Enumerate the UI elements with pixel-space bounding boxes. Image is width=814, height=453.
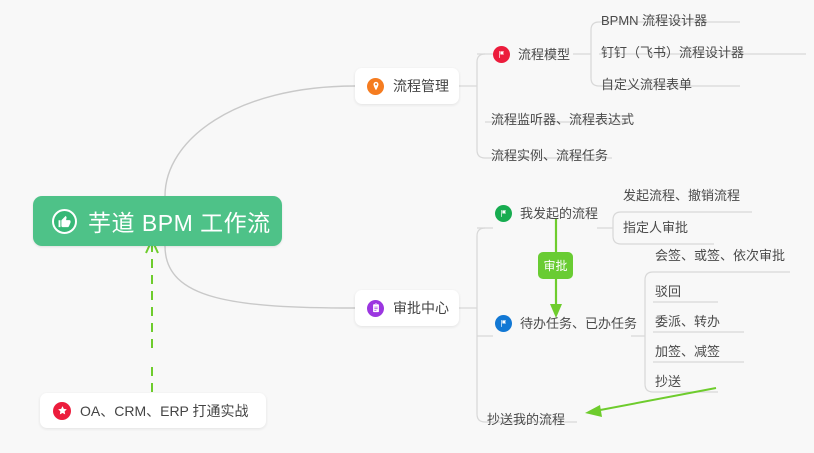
leaf-process-model[interactable]: 流程模型 xyxy=(493,46,570,63)
leaf-countersign-orsign-sequential-label: 会签、或签、依次审批 xyxy=(655,249,785,262)
flag-icon xyxy=(493,46,510,63)
tag-approve[interactable]: 审批 xyxy=(538,252,573,279)
leaf-start-cancel-process[interactable]: 发起流程、撤销流程 xyxy=(623,189,740,202)
leaf-process-model-label: 流程模型 xyxy=(518,48,570,61)
leaf-my-initiated-processes[interactable]: 我发起的流程 xyxy=(495,205,598,222)
bracket-my-initiated-children xyxy=(613,212,621,244)
tag-approve-label: 审批 xyxy=(543,257,567,274)
bracket-process-model-children xyxy=(591,22,599,86)
note-integration-label: OA、CRM、ERP 打通实战 xyxy=(80,401,249,421)
leaf-dingtalk-feishu-designer[interactable]: 钉钉（飞书）流程设计器 xyxy=(601,46,744,59)
leaf-assignee-approval[interactable]: 指定人审批 xyxy=(623,221,688,234)
leaf-todo-done-tasks[interactable]: 待办任务、已办任务 xyxy=(495,315,637,332)
leaf-custom-process-form[interactable]: 自定义流程表单 xyxy=(601,78,692,91)
bracket-todo-done-children xyxy=(645,272,653,392)
thumbs-up-icon xyxy=(52,209,77,234)
leaf-cc[interactable]: 抄送 xyxy=(655,375,681,388)
leaf-dingtalk-feishu-designer-label: 钉钉（飞书）流程设计器 xyxy=(601,46,744,59)
leaf-assignee-approval-label: 指定人审批 xyxy=(623,221,688,234)
leaf-countersign-orsign-sequential[interactable]: 会签、或签、依次审批 xyxy=(655,249,785,262)
root-node[interactable]: 芋道 BPM 工作流 xyxy=(33,196,282,246)
leaf-process-instance-task-label: 流程实例、流程任务 xyxy=(491,149,608,162)
star-icon xyxy=(53,402,71,420)
edge-root-to-process-management xyxy=(165,86,355,196)
leaf-add-remove-sign-label: 加签、减签 xyxy=(655,345,720,358)
leaf-bpmn-designer-label: BPMN 流程设计器 xyxy=(601,14,707,27)
location-pin-icon xyxy=(367,78,384,95)
leaf-my-initiated-processes-label: 我发起的流程 xyxy=(520,207,598,220)
clipboard-icon xyxy=(367,300,384,317)
leaf-add-remove-sign[interactable]: 加签、减签 xyxy=(655,345,720,358)
leaf-process-listener-expression-label: 流程监听器、流程表达式 xyxy=(491,113,634,126)
leaf-bpmn-designer[interactable]: BPMN 流程设计器 xyxy=(601,14,707,27)
branch-approval-center-label: 审批中心 xyxy=(393,298,449,318)
branch-process-management-label: 流程管理 xyxy=(393,76,449,96)
leaf-todo-done-tasks-label: 待办任务、已办任务 xyxy=(520,317,637,330)
green-arrow-cc-to-process xyxy=(595,388,716,411)
leaf-reject-label: 驳回 xyxy=(655,285,681,298)
root-label: 芋道 BPM 工作流 xyxy=(88,204,271,238)
mindmap-canvas: 芋道 BPM 工作流 流程管理 审批中心 流程模型 BPMN 流程设计器 xyxy=(0,0,814,453)
leaf-process-instance-task[interactable]: 流程实例、流程任务 xyxy=(491,149,608,162)
flag-icon xyxy=(495,205,512,222)
leaf-process-listener-expression[interactable]: 流程监听器、流程表达式 xyxy=(491,113,634,126)
leaf-cc-to-me-processes-label: 抄送我的流程 xyxy=(487,413,565,426)
leaf-start-cancel-process-label: 发起流程、撤销流程 xyxy=(623,189,740,202)
flag-icon xyxy=(495,315,512,332)
branch-approval-center[interactable]: 审批中心 xyxy=(355,290,459,326)
leaf-cc-to-me-processes[interactable]: 抄送我的流程 xyxy=(487,413,565,426)
leaf-reject[interactable]: 驳回 xyxy=(655,285,681,298)
bracket-approval-center-children xyxy=(477,228,485,422)
green-arrow-cc-head xyxy=(585,405,602,417)
bracket-process-management-children xyxy=(477,54,485,158)
leaf-custom-process-form-label: 自定义流程表单 xyxy=(601,78,692,91)
leaf-delegate-transfer-label: 委派、转办 xyxy=(655,315,720,328)
note-integration-card[interactable]: OA、CRM、ERP 打通实战 xyxy=(40,393,266,428)
leaf-delegate-transfer[interactable]: 委派、转办 xyxy=(655,315,720,328)
edge-root-to-approval-center xyxy=(165,246,355,308)
leaf-cc-label: 抄送 xyxy=(655,375,681,388)
branch-process-management[interactable]: 流程管理 xyxy=(355,68,459,104)
